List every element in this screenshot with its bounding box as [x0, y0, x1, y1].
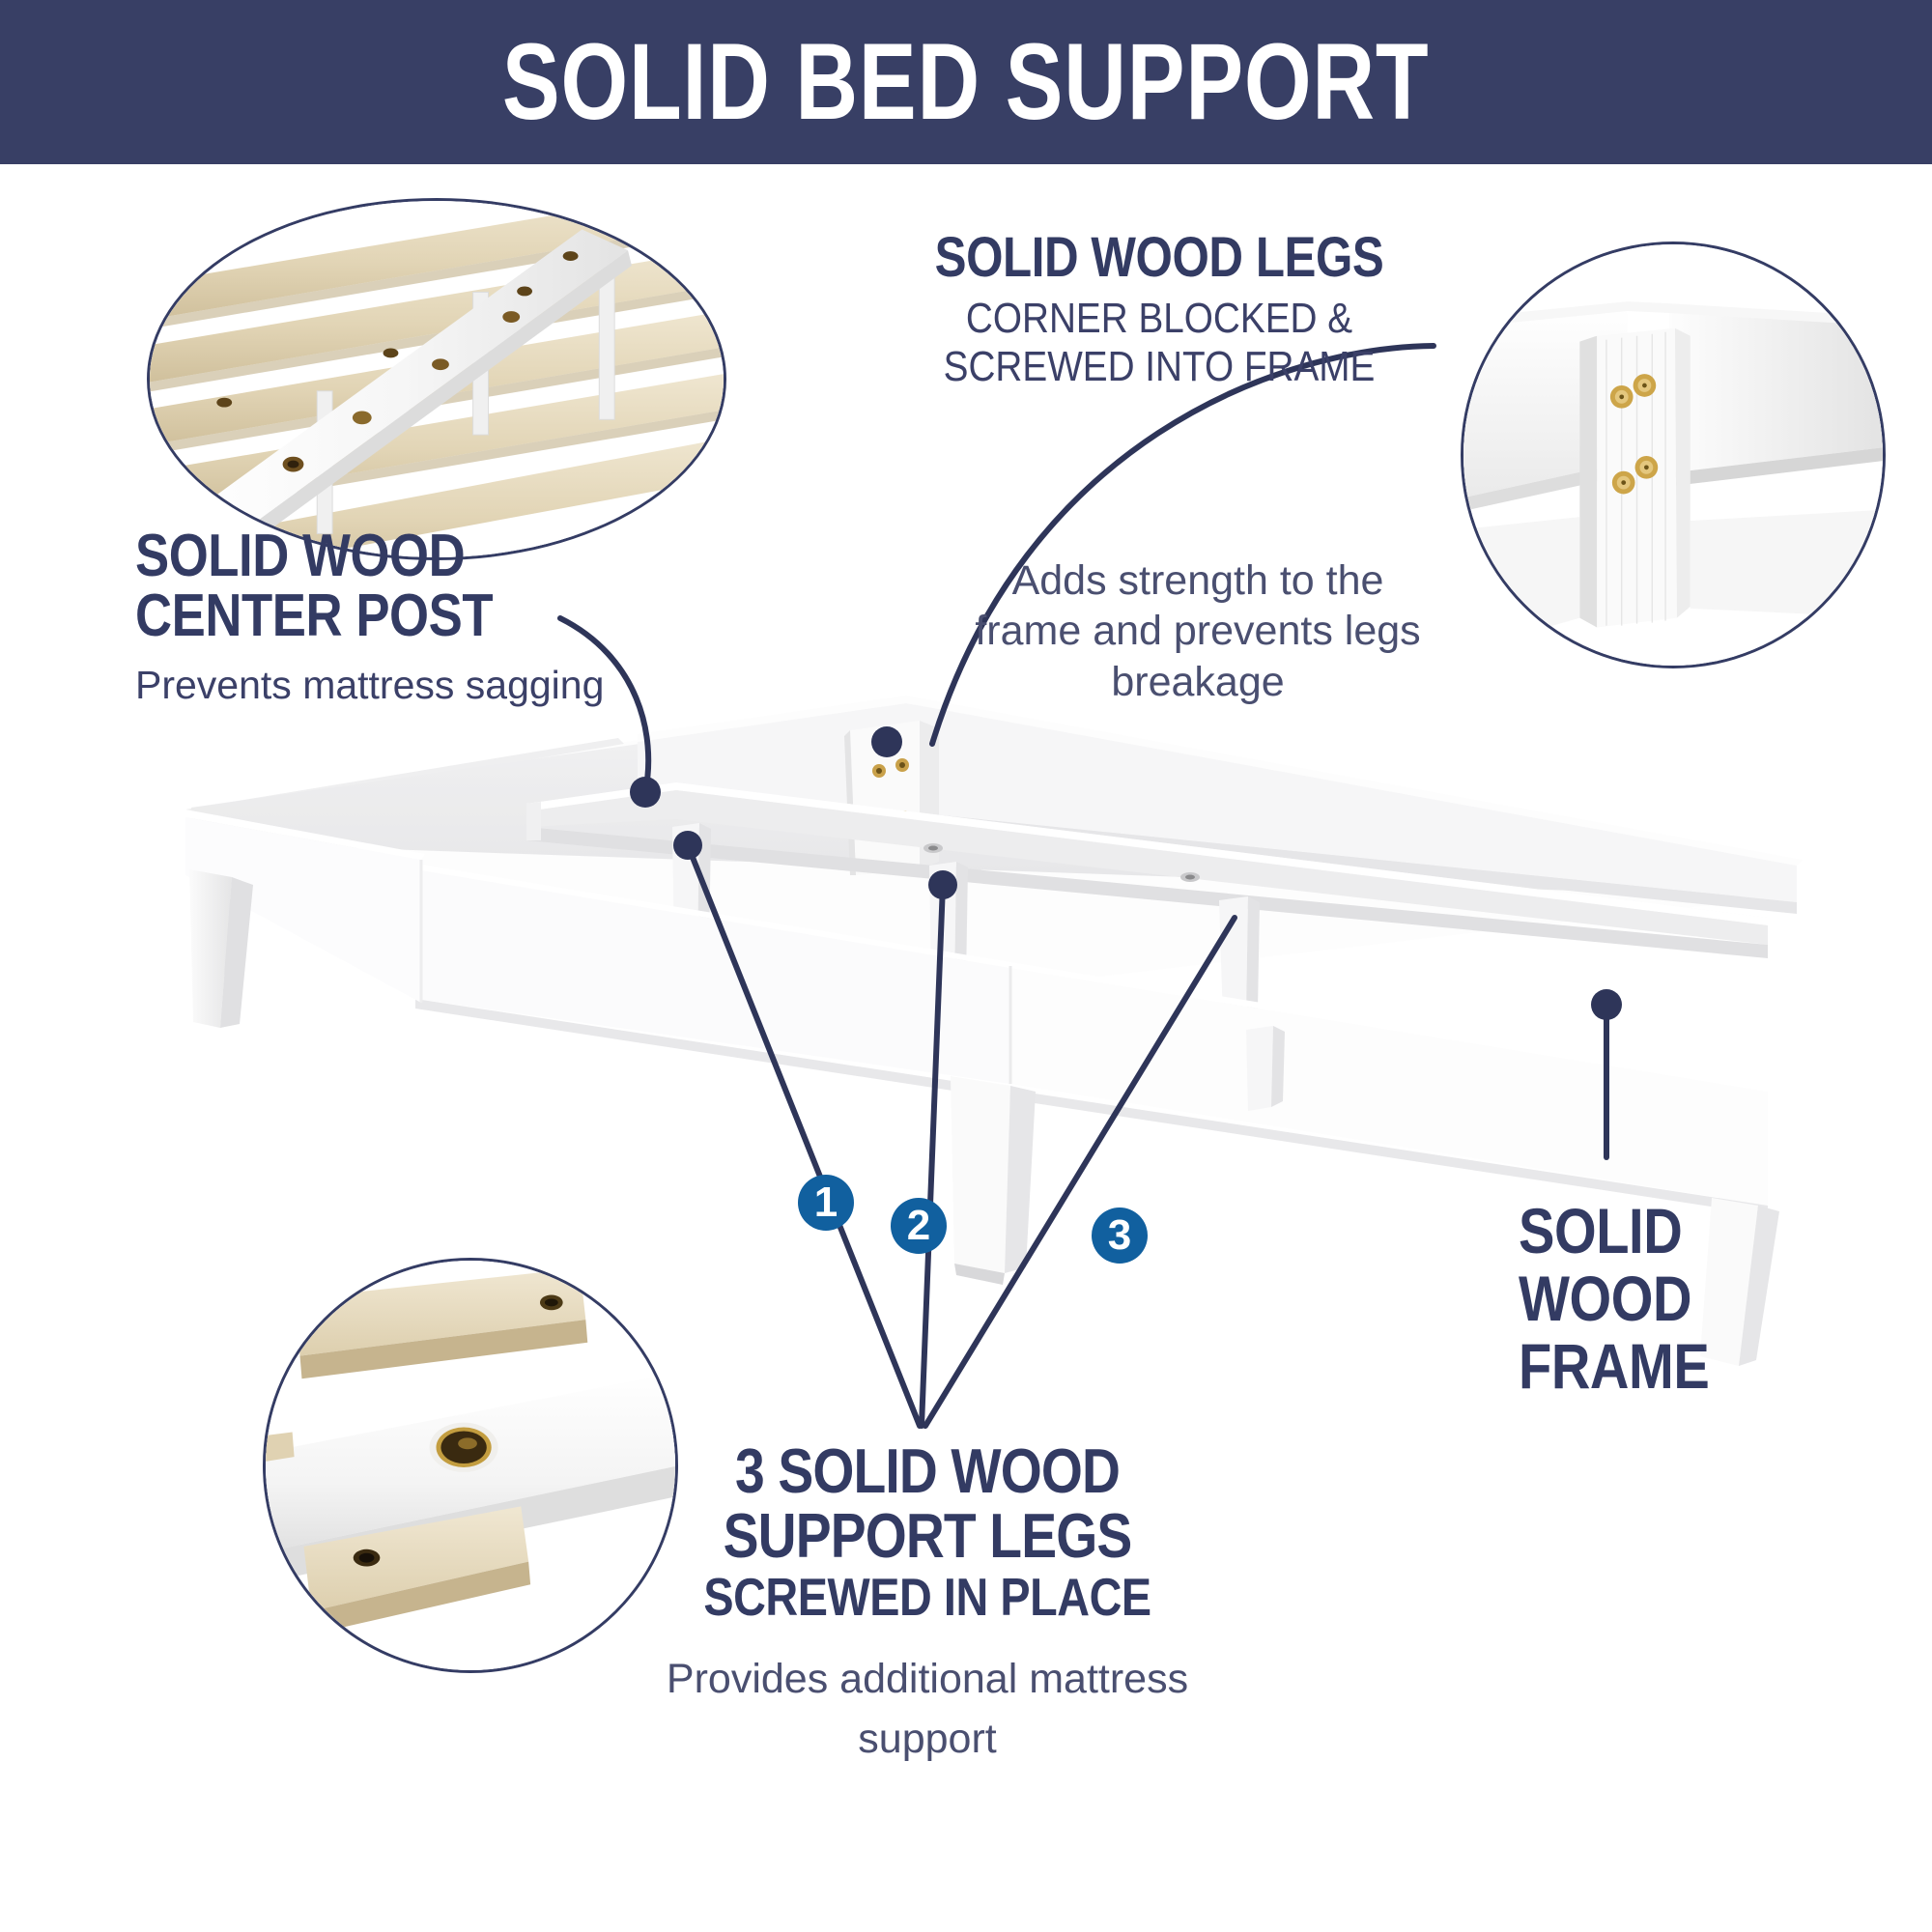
bed-leg-back-right	[1246, 1026, 1285, 1111]
badge-1[interactable]: 1	[798, 1175, 854, 1231]
bed-leg-front-center	[951, 1076, 1036, 1285]
callout-solid-wood-legs: SOLID WOOD LEGS CORNER BLOCKED & SCREWED…	[850, 230, 1468, 389]
callout-support-legs-heading-line1: 3 SOLID WOOD	[681, 1439, 1174, 1502]
callout-solid-wood-legs-sub-line1: CORNER BLOCKED &	[887, 296, 1431, 342]
callout-solid-wood-legs-description: Adds strength to the frame and prevents …	[966, 555, 1430, 707]
callout-support-legs-heading-line2: SUPPORT LEGS	[681, 1504, 1174, 1567]
bed-leg-front-left	[189, 869, 253, 1028]
infographic-page: SOLID BED SUPPORT	[0, 0, 1932, 1932]
callout-support-legs-description: Provides additional mattress support	[638, 1649, 1217, 1770]
callout-solid-wood-legs-heading: SOLID WOOD LEGS	[896, 230, 1422, 286]
callout-solid-wood-frame-heading-line2: WOOD	[1519, 1265, 1847, 1333]
callout-solid-wood-frame-heading-line1: SOLID	[1519, 1198, 1847, 1265]
callout-solid-wood-frame-heading-line3: FRAME	[1519, 1333, 1847, 1401]
bed-corner-block-leg	[844, 721, 939, 875]
callout-solid-wood-legs-sub-line2: SCREWED INTO FRAME	[887, 344, 1431, 390]
callout-support-legs-heading-line3: SCREWED IN PLACE	[681, 1571, 1174, 1624]
callout-center-post: SOLID WOOD CENTER POST Prevents mattress…	[135, 526, 753, 706]
badge-3[interactable]: 3	[1092, 1207, 1148, 1264]
callout-support-legs: 3 SOLID WOOD SUPPORT LEGS SCREWED IN PLA…	[638, 1439, 1217, 1770]
callout-solid-wood-legs-description-block: Adds strength to the frame and prevents …	[966, 555, 1430, 707]
callout-solid-wood-frame: SOLID WOOD FRAME	[1519, 1198, 1905, 1401]
callout-center-post-description: Prevents mattress sagging	[135, 664, 753, 706]
callout-center-post-heading-line2: CENTER POST	[135, 586, 661, 646]
badge-2[interactable]: 2	[891, 1198, 947, 1254]
callout-center-post-heading-line1: SOLID WOOD	[135, 526, 661, 586]
